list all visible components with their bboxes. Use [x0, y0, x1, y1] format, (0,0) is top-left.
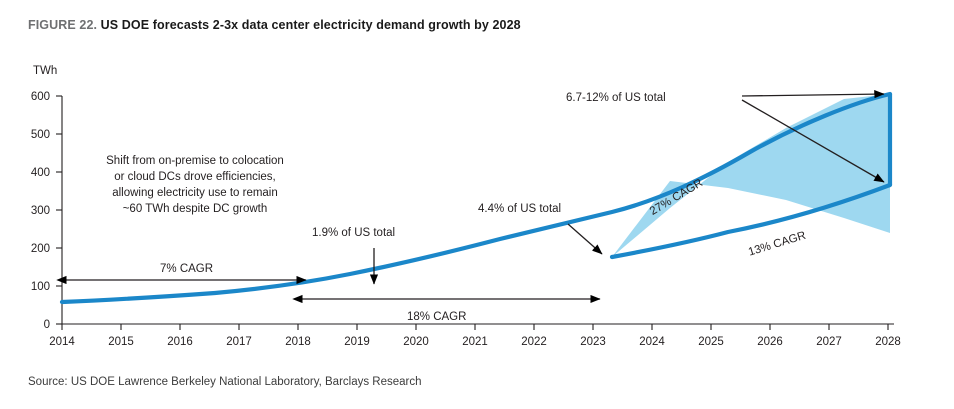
- cagr-label: 18% CAGR: [407, 311, 466, 323]
- annotation-line: ~60 TWh despite DC growth: [123, 203, 268, 215]
- chart-region: TWh 600 500 400 300 200 100 0: [0, 52, 954, 357]
- x-tick-label: 2016: [167, 336, 193, 348]
- y-axis-tick-labels: 600 500 400 300 200 100 0: [31, 91, 50, 331]
- cagr-label-low: 13% CAGR: [747, 230, 807, 259]
- annotation-cagr-2018-2023: 18% CAGR: [302, 299, 600, 323]
- y-axis-ticks: [56, 96, 62, 324]
- callout-arrow-high: [742, 94, 884, 96]
- demand-forecast-chart: TWh 600 500 400 300 200 100 0: [0, 52, 954, 357]
- x-tick-label: 2025: [698, 336, 724, 348]
- y-tick-label: 600: [31, 91, 50, 103]
- annotation-line: allowing electricity use to remain: [112, 187, 278, 199]
- annotation-line: or cloud DCs drove efficiencies,: [114, 171, 276, 183]
- x-tick-label: 2024: [639, 336, 665, 348]
- y-tick-label: 400: [31, 167, 50, 179]
- y-tick-label: 200: [31, 243, 50, 255]
- x-tick-label: 2015: [108, 336, 134, 348]
- page-title: US DOE forecasts 2-3x data center electr…: [101, 18, 521, 32]
- x-axis-tick-labels: 2014 2015 2016 2017 2018 2019 2020 2021 …: [49, 336, 901, 348]
- y-tick-label: 500: [31, 129, 50, 141]
- x-tick-label: 2023: [580, 336, 606, 348]
- x-tick-label: 2020: [403, 336, 429, 348]
- y-tick-label: 100: [31, 281, 50, 293]
- source-note: Source: US DOE Lawrence Berkeley Nationa…: [28, 376, 422, 388]
- forecast-range-band: [612, 94, 890, 257]
- figure-number: FIGURE 22.: [28, 18, 97, 32]
- x-tick-label: 2021: [462, 336, 488, 348]
- x-tick-label: 2022: [521, 336, 547, 348]
- y-tick-label: 0: [44, 319, 50, 331]
- annotation-line: Shift from on-premise to colocation: [106, 155, 284, 167]
- y-axis-unit-label: TWh: [33, 65, 57, 77]
- x-tick-label: 2014: [49, 336, 75, 348]
- annotation-pct-2019: 1.9% of US total: [312, 227, 395, 284]
- y-tick-label: 300: [31, 205, 50, 217]
- cagr-label: 7% CAGR: [160, 263, 213, 275]
- annotation-efficiency-note: Shift from on-premise to colocation or c…: [106, 155, 284, 215]
- callout-arrow: [568, 224, 602, 254]
- callout-label: 6.7-12% of US total: [566, 92, 666, 104]
- callout-label: 4.4% of US total: [478, 203, 561, 215]
- callout-label: 1.9% of US total: [312, 227, 395, 239]
- x-tick-label: 2027: [816, 336, 842, 348]
- figure-header: FIGURE 22. US DOE forecasts 2-3x data ce…: [28, 18, 521, 32]
- x-tick-label: 2026: [757, 336, 783, 348]
- x-axis-ticks: [62, 324, 888, 330]
- x-tick-label: 2028: [875, 336, 901, 348]
- x-tick-label: 2019: [344, 336, 370, 348]
- annotation-cagr-2014-2018: 7% CAGR: [66, 263, 306, 280]
- x-tick-label: 2018: [285, 336, 311, 348]
- x-tick-label: 2017: [226, 336, 252, 348]
